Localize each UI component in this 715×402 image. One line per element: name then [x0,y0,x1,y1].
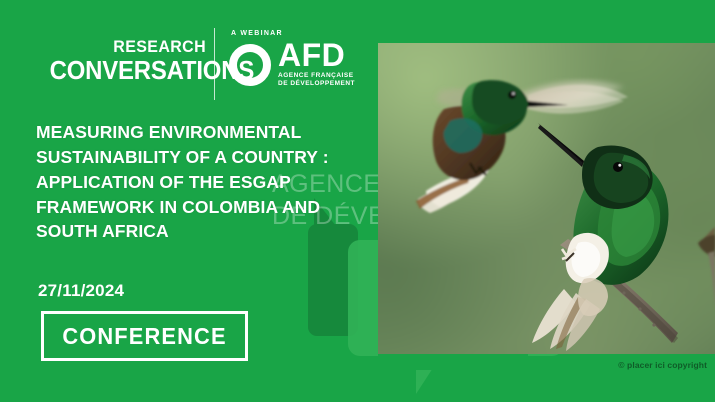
webinar-kicker-label: A WEBINAR [231,30,355,37]
hummingbirds-illustration [378,43,715,354]
poster-header: RESEARCH CONVERSATIONS A WEBINAR AFD AGE… [36,28,368,104]
bubble-mask-strip [378,352,528,370]
afd-ring-icon [229,44,271,86]
series-eyebrow-label: RESEARCH [46,38,206,55]
afd-logo: AFD AGENCE FRANÇAISE DE DÉVELOPPEMENT [229,41,355,88]
event-type-label: CONFERENCE [62,323,226,350]
webinar-announcement-poster: AGENCE FRANÇAISE DE DÉVELOPPEMENT RESEAR… [0,0,715,402]
hero-photo [378,43,715,354]
afd-fullname-label: AGENCE FRANÇAISE DE DÉVELOPPEMENT [278,72,355,88]
page-title: MEASURING ENVIRONMENTAL SUSTAINABILITY O… [36,120,376,244]
series-branding: RESEARCH CONVERSATIONS [36,28,206,84]
event-type-badge: CONFERENCE [41,311,248,361]
photo-credit: © placer ici copyright [618,360,707,370]
event-date: 27/11/2024 [38,281,124,301]
afd-logotype: AFD AGENCE FRANÇAISE DE DÉVELOPPEMENT [278,41,355,88]
afd-logo-block: A WEBINAR AFD AGENCE FRANÇAISE DE DÉVELO… [229,28,355,88]
series-title-label: CONVERSATIONS [50,57,206,84]
afd-acronym-label: AFD [278,41,355,70]
